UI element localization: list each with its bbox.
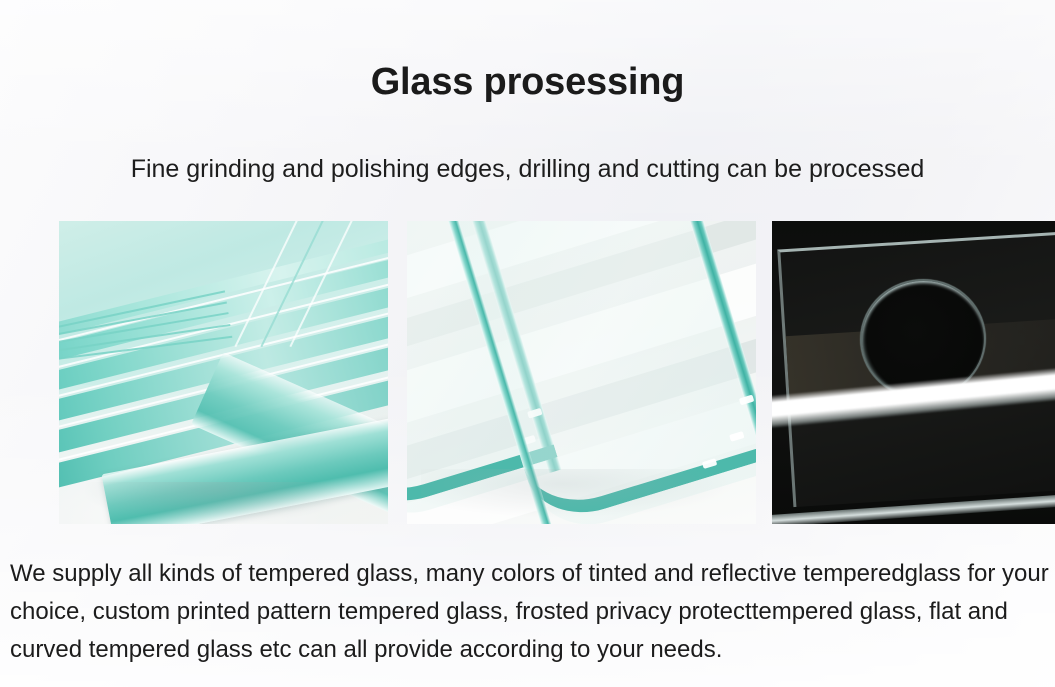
page-subtitle: Fine grinding and polishing edges, drill…: [0, 152, 1055, 186]
product-description-paragraph: We supply all kinds of tempered glass, m…: [10, 555, 1052, 669]
page-title: Glass prosessing: [0, 58, 1055, 106]
gallery-image-drilled-hole-panel[interactable]: [772, 221, 1055, 524]
gallery-image-rounded-corner-panels[interactable]: [407, 221, 756, 524]
drilled-hole-panel-artwork: [772, 221, 1055, 524]
gallery-image-stacked-glass-sheets[interactable]: [59, 221, 388, 524]
rounded-corner-panels-artwork: [407, 221, 756, 524]
image-gallery: [19, 205, 1041, 508]
product-description-page: Glass prosessing Fine grinding and polis…: [0, 0, 1055, 687]
stacked-glass-sheets-artwork: [59, 221, 388, 524]
